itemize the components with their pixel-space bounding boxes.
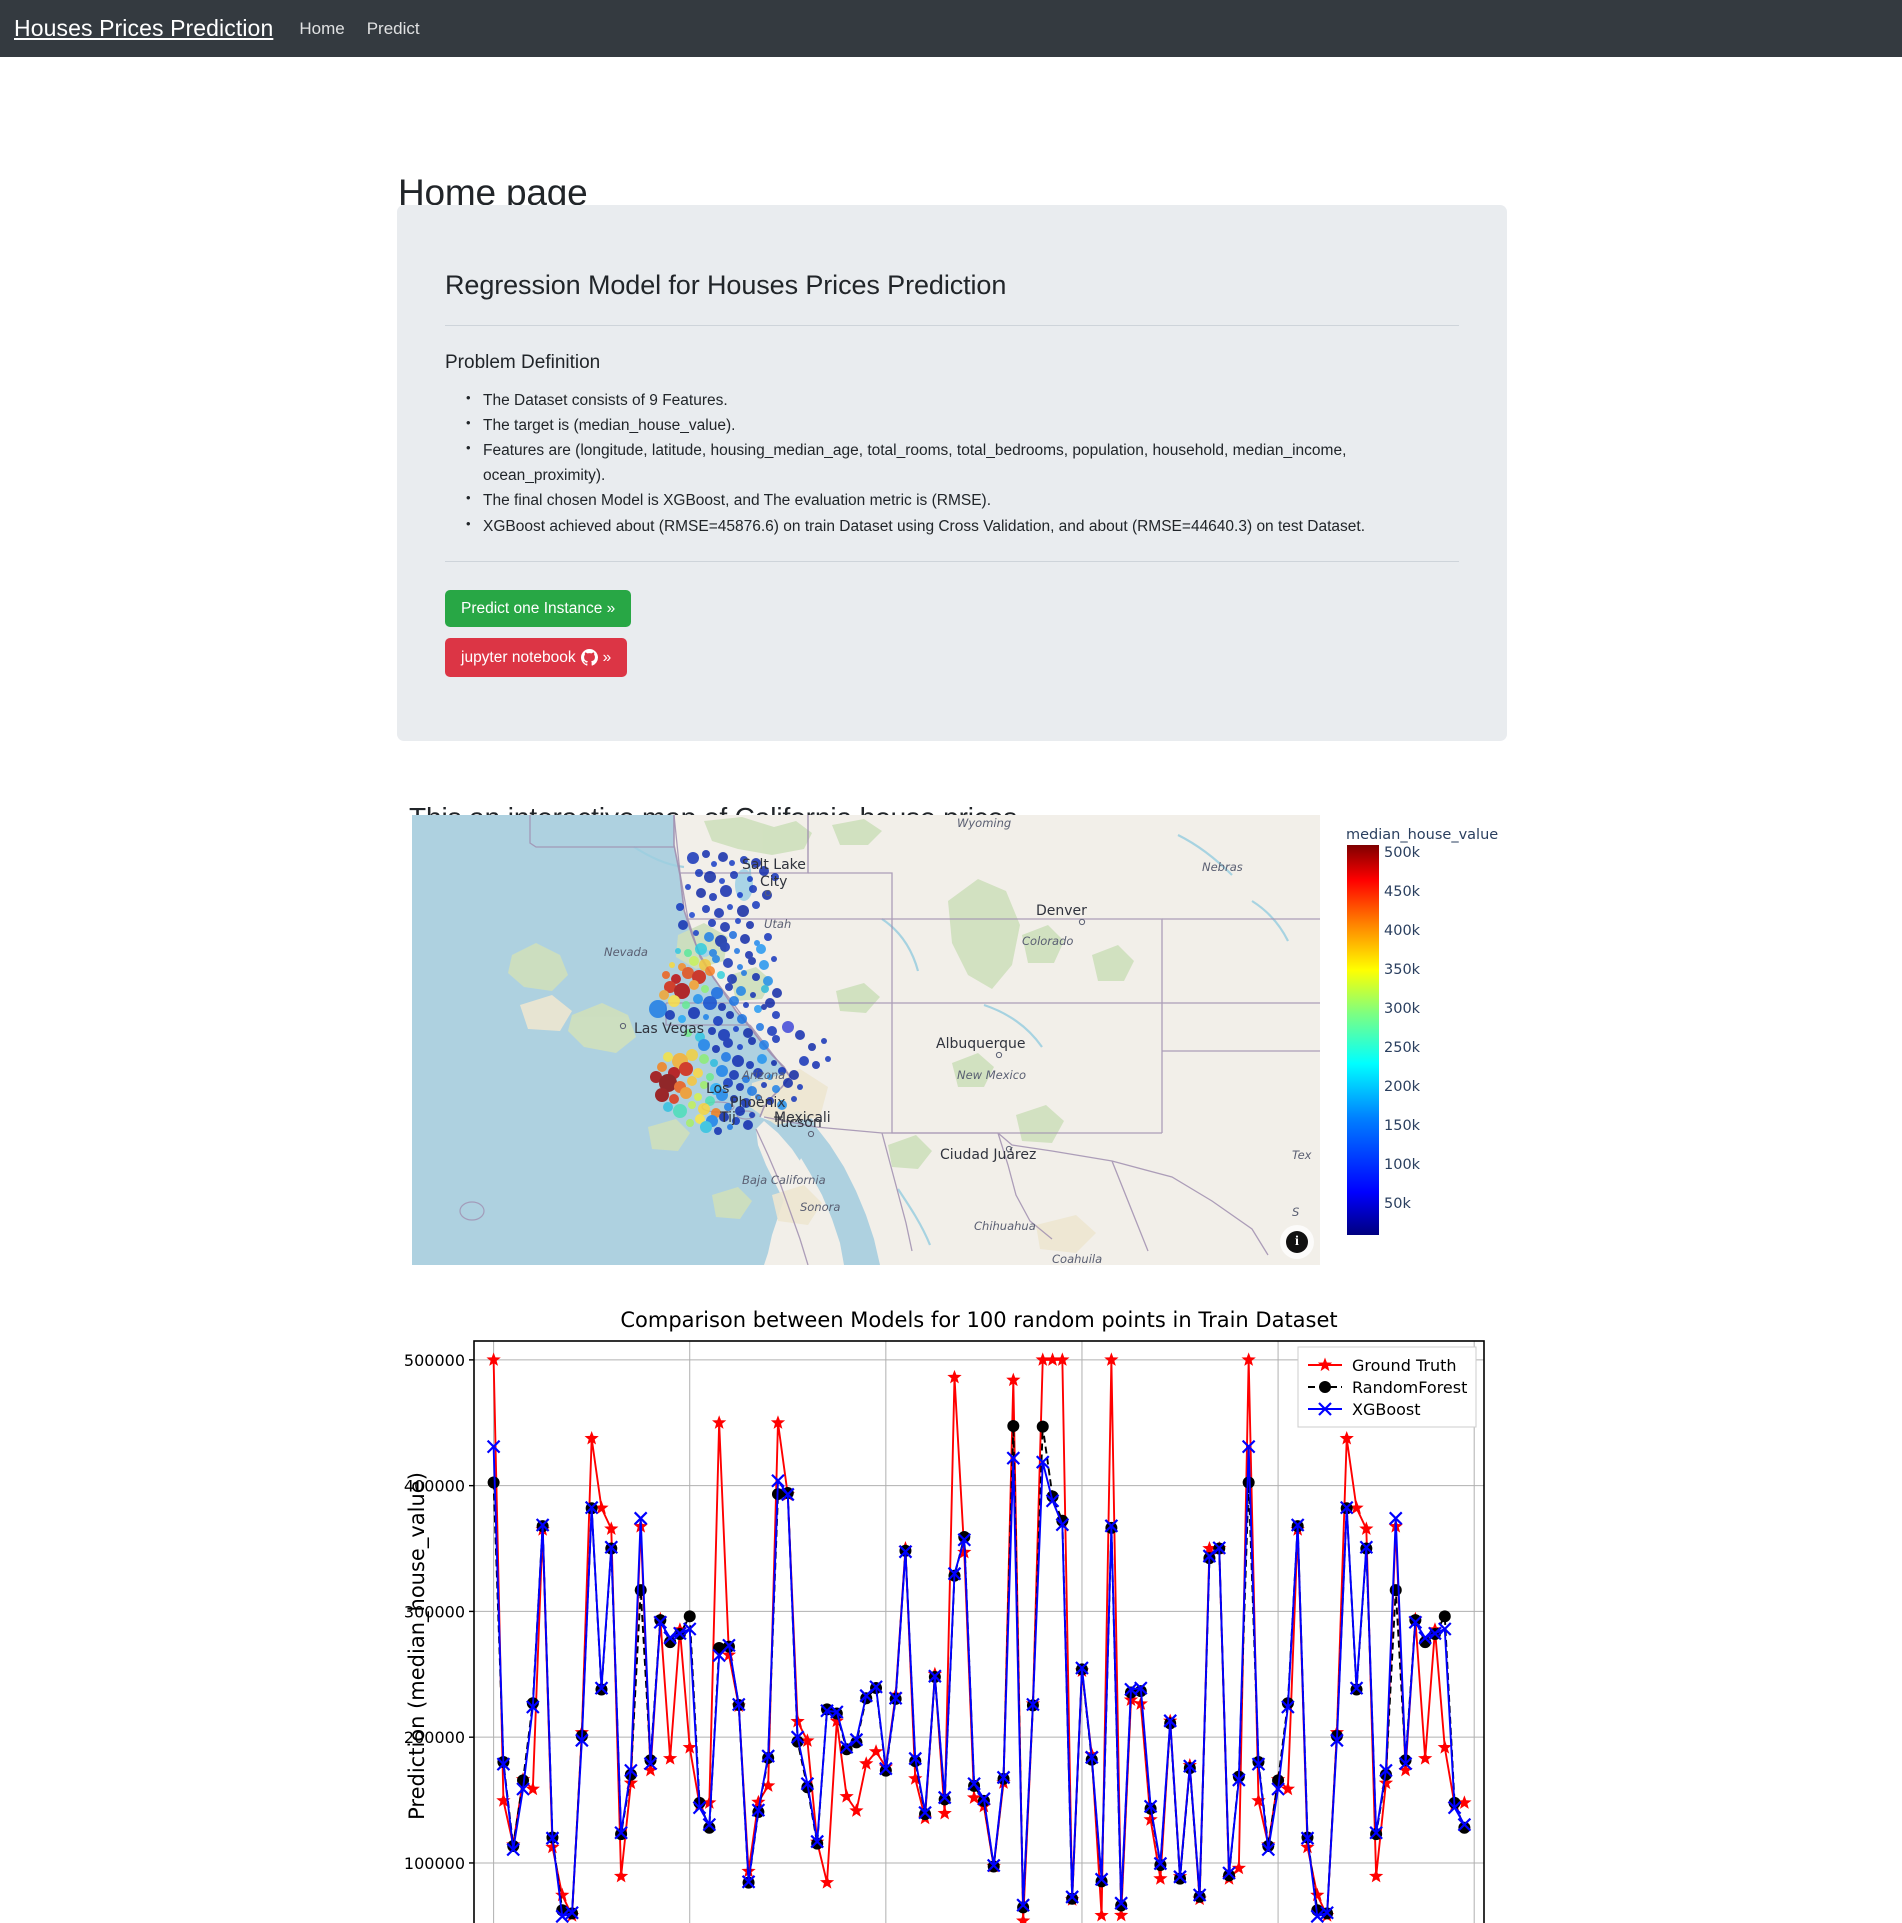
series-marker: [849, 1803, 863, 1817]
list-item: The Dataset consists of 9 Features.: [483, 388, 1383, 413]
series-marker: [614, 1869, 628, 1883]
github-icon: [581, 649, 598, 666]
series-marker: [1153, 1871, 1167, 1885]
series-marker: [684, 1610, 696, 1622]
predict-button-row: Predict one Instance »: [445, 590, 1459, 628]
svg-text:Tij: Tij: [719, 1110, 736, 1126]
predict-one-instance-button[interactable]: Predict one Instance »: [445, 590, 631, 628]
svg-text:Utah: Utah: [764, 917, 791, 931]
series-marker: [1369, 1869, 1383, 1883]
y-axis-label: Prediction (median_house_value): [405, 1472, 430, 1820]
svg-text:Sonora: Sonora: [800, 1200, 840, 1214]
svg-text:Coahuila: Coahuila: [1052, 1252, 1102, 1265]
svg-text:Las Vegas: Las Vegas: [634, 1021, 704, 1037]
jupyter-notebook-label: jupyter notebook: [461, 650, 576, 666]
colorbar-gradient: [1347, 845, 1379, 1235]
legend-label: Ground Truth: [1352, 1356, 1457, 1375]
svg-text:City: City: [760, 874, 787, 890]
colorbar-tick: 300k: [1384, 1001, 1420, 1017]
series-marker: [839, 1789, 853, 1803]
california-house-prices-map[interactable]: Wyoming Nebras Utah Colorado Nevada Ariz…: [412, 815, 1320, 1265]
jumbotron-card: Regression Model for Houses Prices Predi…: [397, 205, 1507, 741]
jupyter-notebook-button[interactable]: jupyter notebook »: [445, 638, 627, 677]
svg-text:Baja California: Baja California: [742, 1173, 826, 1187]
series-marker: [488, 1476, 500, 1488]
svg-text:S: S: [1292, 1205, 1299, 1219]
problem-definition-subheading: Problem Definition: [445, 352, 1459, 374]
navbar-brand[interactable]: Houses Prices Prediction: [14, 15, 273, 42]
series-marker: [1037, 1421, 1049, 1433]
svg-text:Mexicali: Mexicali: [774, 1110, 831, 1126]
colorbar-tick: 150k: [1384, 1118, 1420, 1134]
svg-text:Phoenix: Phoenix: [730, 1095, 786, 1111]
colorbar-tick: 350k: [1384, 962, 1420, 978]
legend-marker: [1319, 1381, 1331, 1393]
series-marker: [1310, 1888, 1324, 1902]
colorbar-tick: 400k: [1384, 923, 1420, 939]
colorbar-title: median_house_value: [1346, 827, 1498, 843]
series-marker: [1094, 1908, 1108, 1922]
map-canvas: Wyoming Nebras Utah Colorado Nevada Ariz…: [412, 815, 1320, 1265]
series-marker: [938, 1806, 952, 1820]
map-colorbar: median_house_value 500k 450k 400k 350k 3…: [1346, 827, 1526, 1257]
colorbar-tick: 50k: [1384, 1196, 1411, 1212]
svg-text:New Mexico: New Mexico: [957, 1068, 1026, 1082]
notebook-button-row: jupyter notebook »: [445, 638, 1459, 677]
svg-text:Nevada: Nevada: [604, 945, 648, 959]
series-marker: [820, 1875, 834, 1889]
list-item: XGBoost achieved about (RMSE=45876.6) on…: [483, 514, 1383, 539]
jupyter-notebook-chevron: »: [603, 650, 612, 666]
legend-label: XGBoost: [1352, 1400, 1421, 1419]
colorbar-tick: 100k: [1384, 1157, 1420, 1173]
svg-text:Tex: Tex: [1292, 1148, 1312, 1162]
series-marker: [1016, 1913, 1030, 1923]
svg-text:Albuquerque: Albuquerque: [936, 1036, 1025, 1052]
chart-canvas: Comparison between Models for 100 random…: [402, 1305, 1502, 1923]
colorbar-tick: 200k: [1384, 1079, 1420, 1095]
svg-text:Colorado: Colorado: [1022, 934, 1073, 948]
series-line: [494, 1360, 1465, 1921]
problem-definition-list: The Dataset consists of 9 Features. The …: [445, 388, 1459, 539]
y-tick-label: 100000: [404, 1854, 465, 1873]
series-line: [494, 1426, 1465, 1913]
jumbotron-heading: Regression Model for Houses Prices Predi…: [445, 270, 1459, 301]
series-marker: [555, 1888, 569, 1902]
svg-text:Wyoming: Wyoming: [957, 816, 1011, 830]
series-marker: [663, 1751, 677, 1765]
colorbar-tick: 250k: [1384, 1040, 1420, 1056]
nav-link-predict[interactable]: Predict: [367, 19, 420, 39]
map-info-icon[interactable]: i: [1286, 1231, 1308, 1253]
svg-text:Chihuahua: Chihuahua: [974, 1219, 1036, 1233]
svg-text:Denver: Denver: [1036, 903, 1087, 919]
y-tick-label: 500000: [404, 1351, 465, 1370]
legend-label: RandomForest: [1352, 1378, 1467, 1397]
divider-bottom: [445, 561, 1459, 562]
divider-top: [445, 325, 1459, 326]
colorbar-tick: 500k: [1384, 845, 1420, 861]
svg-text:Ciudad Juárez: Ciudad Juárez: [940, 1147, 1036, 1163]
svg-text:Salt Lake: Salt Lake: [742, 857, 806, 873]
chart-series-xgboost: [488, 1441, 1471, 1923]
series-marker: [1007, 1420, 1019, 1432]
top-navbar: Houses Prices Prediction Home Predict: [0, 0, 1902, 57]
list-item: Features are (longitude, latitude, housi…: [483, 438, 1383, 488]
svg-text:Nebras: Nebras: [1202, 860, 1243, 874]
svg-text:Arizona: Arizona: [741, 1068, 785, 1082]
nav-link-home[interactable]: Home: [299, 19, 344, 39]
list-item: The final chosen Model is XGBoost, and T…: [483, 488, 1383, 513]
series-marker: [635, 1584, 647, 1596]
chart-series-ground-truth: [486, 1352, 1471, 1923]
colorbar-tick: 450k: [1384, 884, 1420, 900]
model-comparison-chart: Comparison between Models for 100 random…: [402, 1305, 1502, 1923]
colorbar-ticks: 500k 450k 400k 350k 300k 250k 200k 150k …: [1384, 845, 1464, 1235]
series-marker: [1418, 1751, 1432, 1765]
series-marker: [869, 1744, 883, 1758]
series-marker: [1390, 1584, 1402, 1596]
series-marker: [1439, 1610, 1451, 1622]
chart-title: Comparison between Models for 100 random…: [620, 1308, 1337, 1332]
svg-text:Los: Los: [706, 1081, 729, 1097]
list-item: The target is (median_house_value).: [483, 413, 1383, 438]
chart-legend: Ground TruthRandomForestXGBoost: [1298, 1347, 1476, 1427]
